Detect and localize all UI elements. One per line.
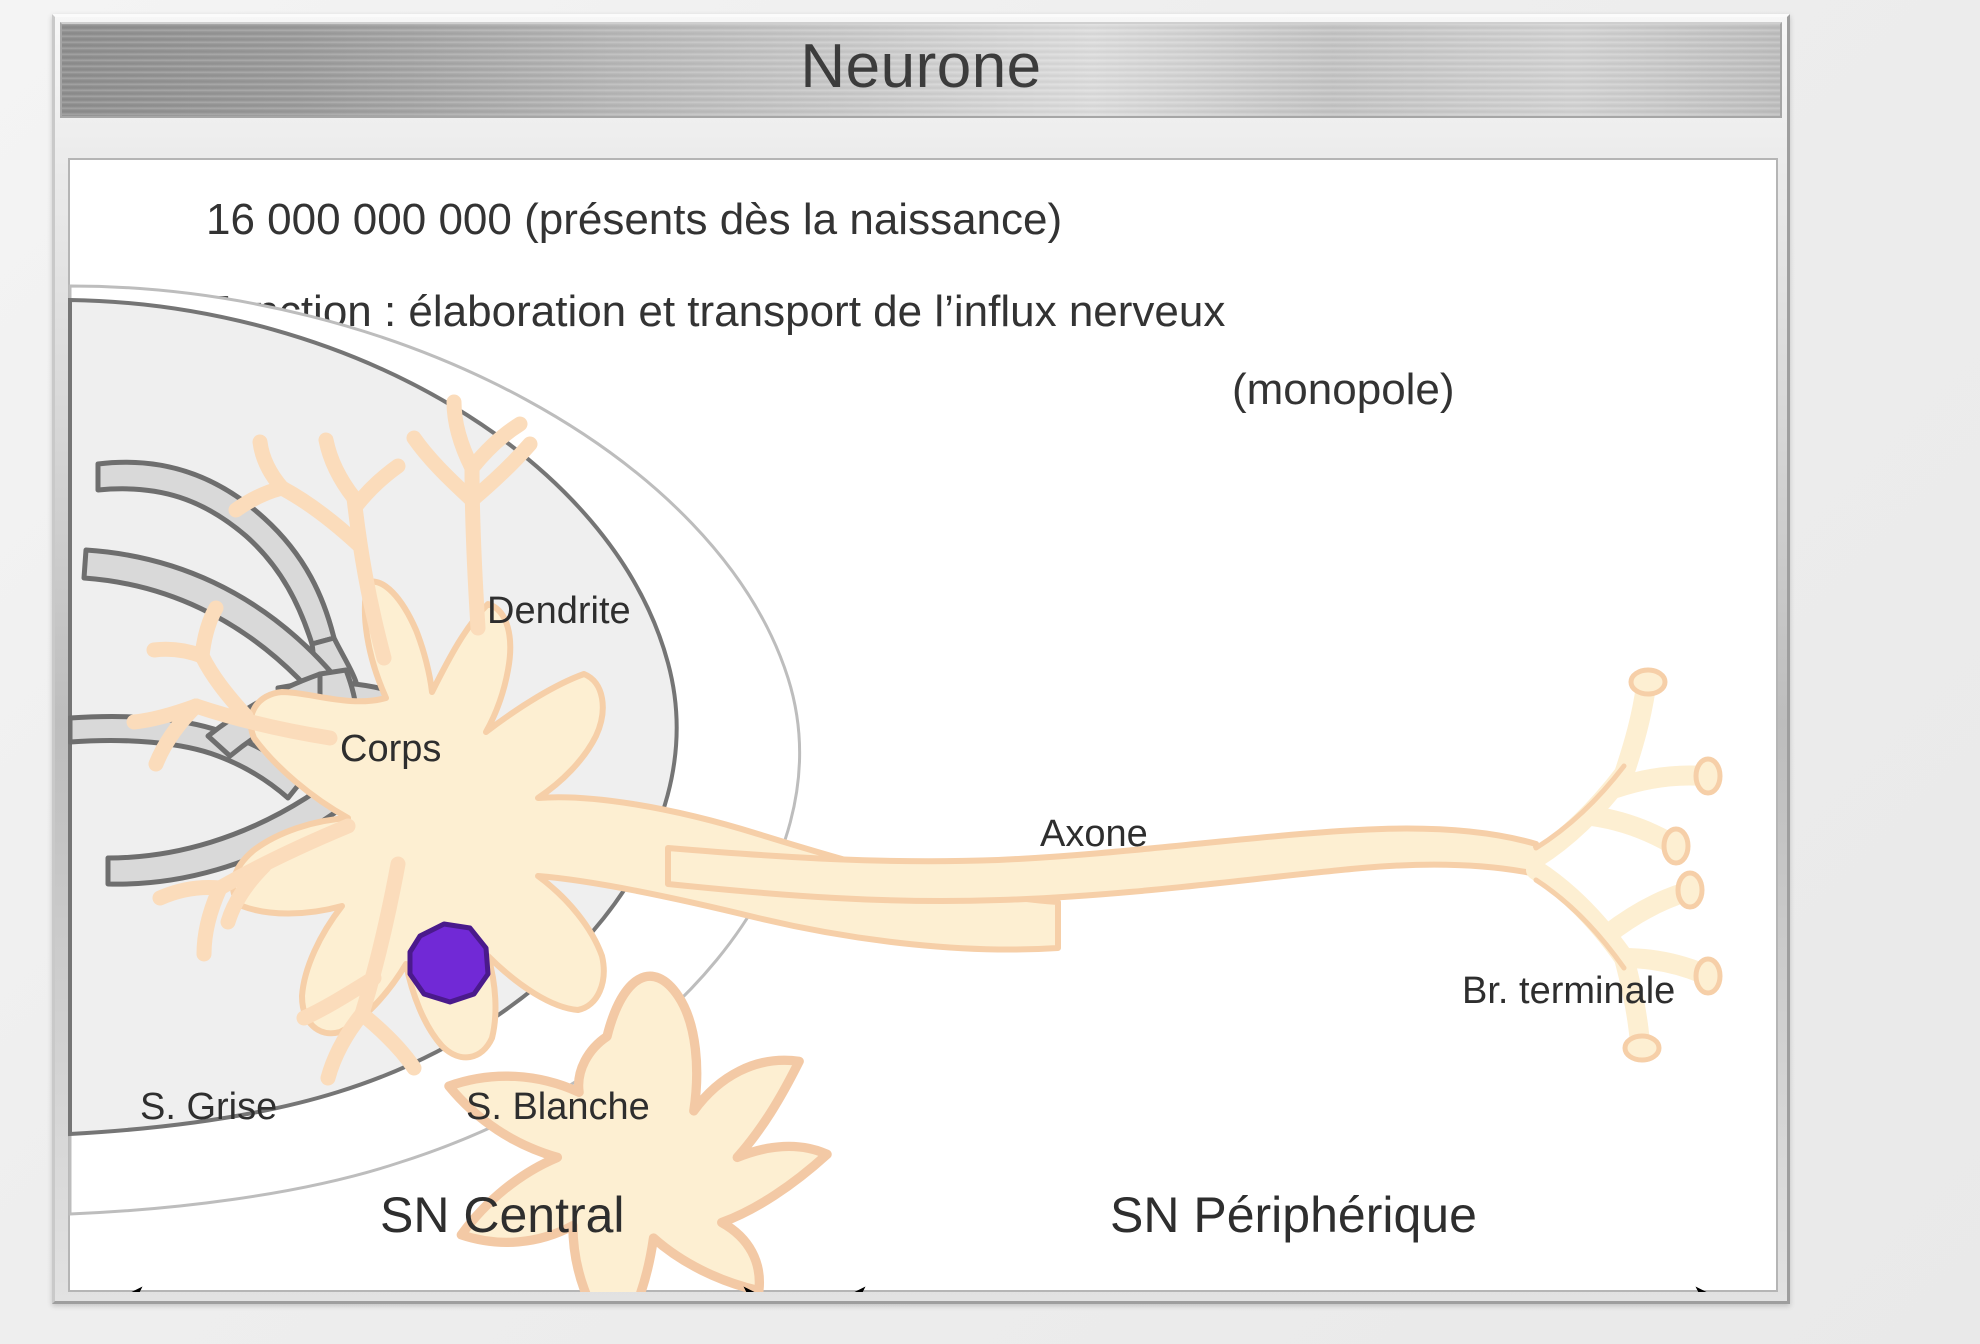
bouton-3 [1664,829,1688,863]
terminal-branch-upper-1 [1624,686,1646,774]
label-dendrite: Dendrite [487,592,631,630]
label-axone: Axone [1040,815,1148,853]
bouton-2 [1696,759,1720,793]
terminal-branch-lower-1 [1608,892,1686,934]
neuron-diagram [68,158,1778,1292]
slide-root: Neurone 16 000 000 000 (présents dès la … [0,0,1980,1344]
bouton-5 [1696,959,1720,993]
terminal-branch-upper-2 [1616,776,1704,789]
bouton-6 [1625,1036,1659,1060]
label-s-grise: S. Grise [140,1088,277,1126]
nucleus [410,924,488,1002]
label-s-blanche: S. Blanche [466,1088,650,1126]
terminal-branch-upper-3 [1592,816,1672,844]
bouton-1 [1631,670,1665,694]
bouton-4 [1678,873,1702,907]
slide-title-bar: Neurone [60,22,1782,118]
page-title: Neurone [800,36,1041,98]
label-sn-peripherique: SN Périphérique [1110,1190,1477,1240]
label-br-terminale: Br. terminale [1462,972,1675,1010]
label-corps: Corps [340,730,441,768]
label-sn-central: SN Central [380,1190,625,1240]
